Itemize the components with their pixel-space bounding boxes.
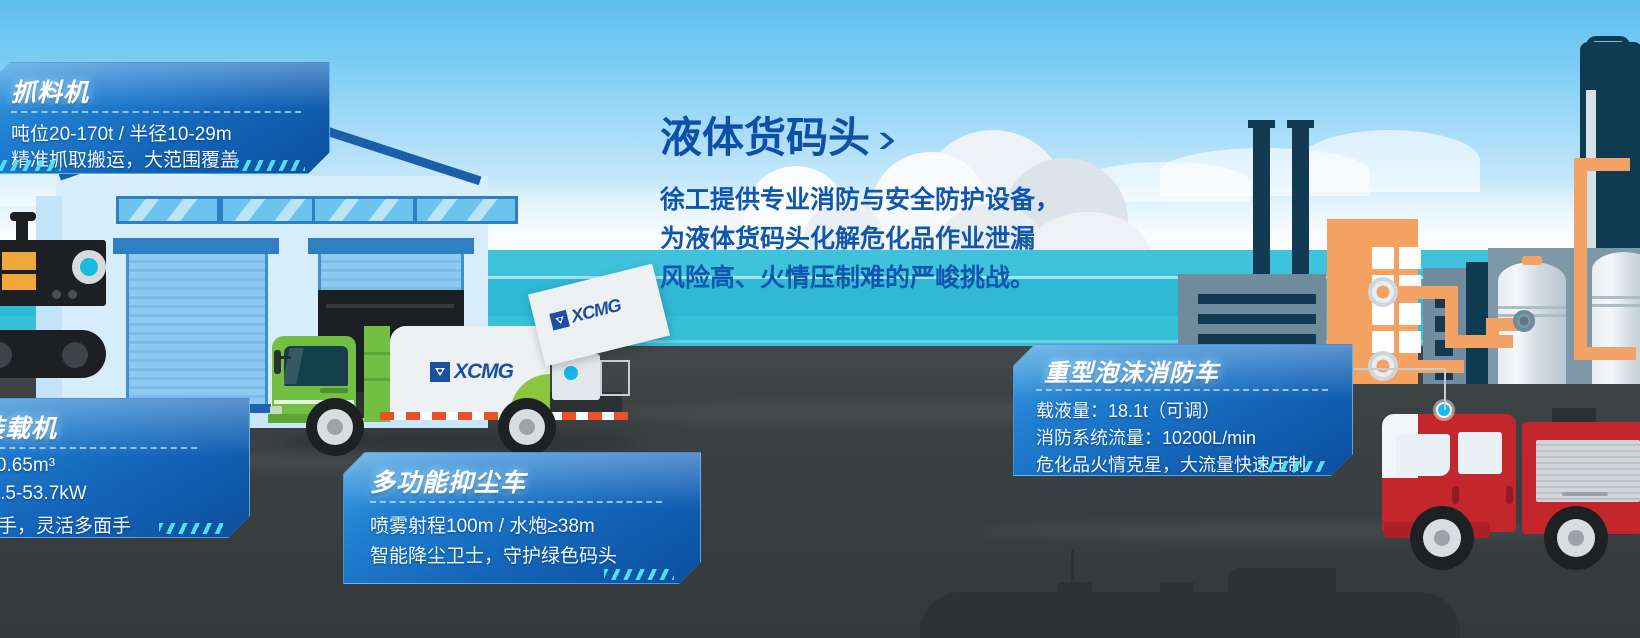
card-heavy-foam-fire-truck[interactable]: 重型泡沫消防车 载液量：18.1t（可调） 消防系统流量：10200L/min …: [1013, 344, 1353, 476]
pipe-segment: [1574, 347, 1636, 360]
storage-tank-ring: [1592, 304, 1640, 307]
orange-tower-window: [1372, 331, 1394, 353]
warehouse-partial-door: [318, 254, 464, 290]
orange-tower-window: [1399, 303, 1421, 325]
truck-wheel: [306, 398, 364, 456]
hotspot-leader-line: [1444, 368, 1446, 410]
warehouse-side-wall: [36, 196, 62, 428]
panel-xcmg-logo: XCMG: [549, 295, 623, 333]
foreground-tank-mast: [1071, 550, 1074, 584]
warehouse-roller-door: [126, 254, 268, 404]
card-wheel-loader[interactable]: 装载机 5-0.65m³ 35.5-53.7kW 能手，灵活多面手: [0, 398, 250, 538]
pipe-segment: [1574, 158, 1587, 303]
card-title: 重型泡沫消防车: [1044, 353, 1219, 388]
card-spec-line: 35.5-53.7kW: [0, 483, 87, 505]
plant-louver: [1198, 334, 1316, 344]
card-grab-loader[interactable]: 抓料机 吨位20-170t / 半径10-29m 精准抓取搬运，大范围覆盖: [0, 62, 330, 174]
grab-machine-hub-core: [80, 258, 98, 276]
truck-rear-frame: [600, 360, 630, 396]
truck-headlight: [270, 406, 282, 414]
fire-truck-wheel: [1544, 506, 1608, 570]
hero-description-line-1: 徐工提供专业消防与安全防护设备，: [660, 180, 1060, 216]
foam-fire-truck: [1376, 400, 1640, 572]
truck-mirror: [274, 350, 281, 374]
foreground-tank-silhouette: [920, 592, 1460, 638]
card-spec-line: 智能降尘卫士，守护绿色码头: [370, 541, 617, 568]
fire-truck-wheel: [1410, 506, 1474, 570]
chimney-cap: [1287, 120, 1314, 128]
card-spec-line: 5-0.65m³: [0, 455, 55, 477]
truck-xcmg-logo: XCMG: [430, 360, 513, 384]
card-stripe-decor: [0, 160, 61, 171]
grab-machine-track: [0, 330, 106, 378]
fire-truck-door-handle: [1506, 486, 1513, 504]
warehouse-window: [220, 196, 324, 224]
card-divider: [11, 111, 301, 113]
scene-illustration: XCMG XCMG: [0, 0, 1640, 638]
hotspot-leader-line: [1344, 368, 1446, 370]
card-title: 多功能抑尘车: [370, 463, 526, 499]
fire-truck-shutter-handle: [1562, 492, 1608, 496]
chimney-stack: [1253, 124, 1270, 276]
warehouse-door-header: [308, 238, 474, 254]
xcmg-mark-icon: [549, 310, 570, 331]
fire-truck-roof-box: [1552, 408, 1596, 422]
page-title-text: 液体货码头: [660, 114, 870, 161]
warehouse-window: [116, 196, 220, 224]
card-stripe-decor: [604, 569, 674, 580]
card-divider: [370, 501, 662, 503]
mist-ridge: [1300, 130, 1480, 192]
orange-tower-window: [1399, 247, 1421, 269]
pipe-segment: [1445, 335, 1513, 348]
card-dust-suppression-truck[interactable]: 多功能抑尘车 喷雾射程100m / 水炮≥38m 智能降尘卫士，守护绿色码头: [343, 452, 701, 584]
plant-louver: [1198, 294, 1316, 304]
pipe-valve-knob: [1368, 277, 1398, 307]
xcmg-wordmark: XCMG: [454, 360, 513, 384]
fire-truck-windshield: [1396, 434, 1450, 476]
truck-equipment-box-line: [364, 378, 390, 381]
storage-tank-dome: [1498, 262, 1566, 300]
grab-machine-exhaust: [16, 218, 28, 244]
grab-machine-cab-window: [2, 252, 36, 270]
pipe-valve-knob: [1368, 351, 1398, 381]
warehouse-window: [312, 196, 416, 224]
chimney-cap: [1248, 120, 1275, 128]
truck-mirror-arm: [279, 356, 291, 359]
truck-spray-nozzle-icon: [564, 366, 578, 380]
plant-louver: [1198, 314, 1316, 324]
truck-cab-grille: [320, 388, 348, 393]
card-spec-line: 能手，灵活多面手: [0, 511, 131, 538]
grab-machine-detail: [52, 290, 61, 299]
foreground-tank-elbow: [1240, 568, 1336, 592]
foreground-tank-hatch: [1160, 582, 1194, 596]
card-spec-line: 喷雾射程100m / 水炮≥38m: [370, 511, 595, 538]
warehouse-door-header: [113, 238, 279, 254]
storage-tank-dome: [1592, 252, 1640, 288]
orange-tower-window: [1399, 331, 1421, 353]
storage-tank-nozzle: [1522, 256, 1542, 265]
grab-machine-exhaust-cap: [10, 212, 36, 221]
card-spec-line: 消防系统流量：10200L/min: [1036, 424, 1256, 450]
card-spec-line: 吨位20-170t / 半径10-29m: [11, 119, 232, 146]
column-handrail: [1586, 36, 1630, 52]
hero-description-line-2: 为液体货码头化解危化品作业泄漏: [660, 219, 1035, 255]
warehouse-window: [414, 196, 518, 224]
orange-tower-window: [1372, 247, 1394, 269]
pipe-valve-knob: [1513, 310, 1535, 332]
storage-tank-ring: [1498, 306, 1566, 309]
fire-truck-side-window: [1458, 432, 1502, 474]
grab-machine-cab-window: [2, 274, 36, 290]
pipe-segment: [1574, 158, 1630, 171]
truck-equipment-box-line: [364, 352, 390, 355]
xcmg-mark-icon: [430, 362, 450, 382]
chevron-right-icon[interactable]: ›: [878, 114, 897, 162]
card-stripe-decor: [235, 160, 305, 171]
chimney-stack: [1292, 124, 1309, 276]
card-title: 装载机: [0, 409, 57, 445]
truck-wheel: [498, 398, 556, 456]
card-stripe-decor: [1260, 461, 1328, 472]
grab-machine-detail: [68, 290, 77, 299]
card-divider: [1036, 389, 1328, 391]
card-stripe-decor: [159, 523, 223, 534]
storage-tank-ring: [1592, 296, 1640, 299]
foreground-tank-hatch: [1058, 582, 1092, 596]
fire-truck-door-handle: [1452, 486, 1459, 504]
page-title: 液体货码头›: [660, 104, 894, 165]
storage-tank-body: [1592, 286, 1640, 384]
hero-description-line-3: 风险高、火情压制难的严峻挑战。: [660, 258, 1035, 294]
card-spec-line: 载液量：18.1t（可调）: [1036, 397, 1220, 423]
grab-machine-track-wheel: [62, 342, 88, 368]
truck-equipment-box: [364, 326, 390, 422]
card-title: 抓料机: [11, 73, 89, 109]
card-divider: [0, 447, 197, 449]
xcmg-wordmark: XCMG: [569, 295, 623, 327]
